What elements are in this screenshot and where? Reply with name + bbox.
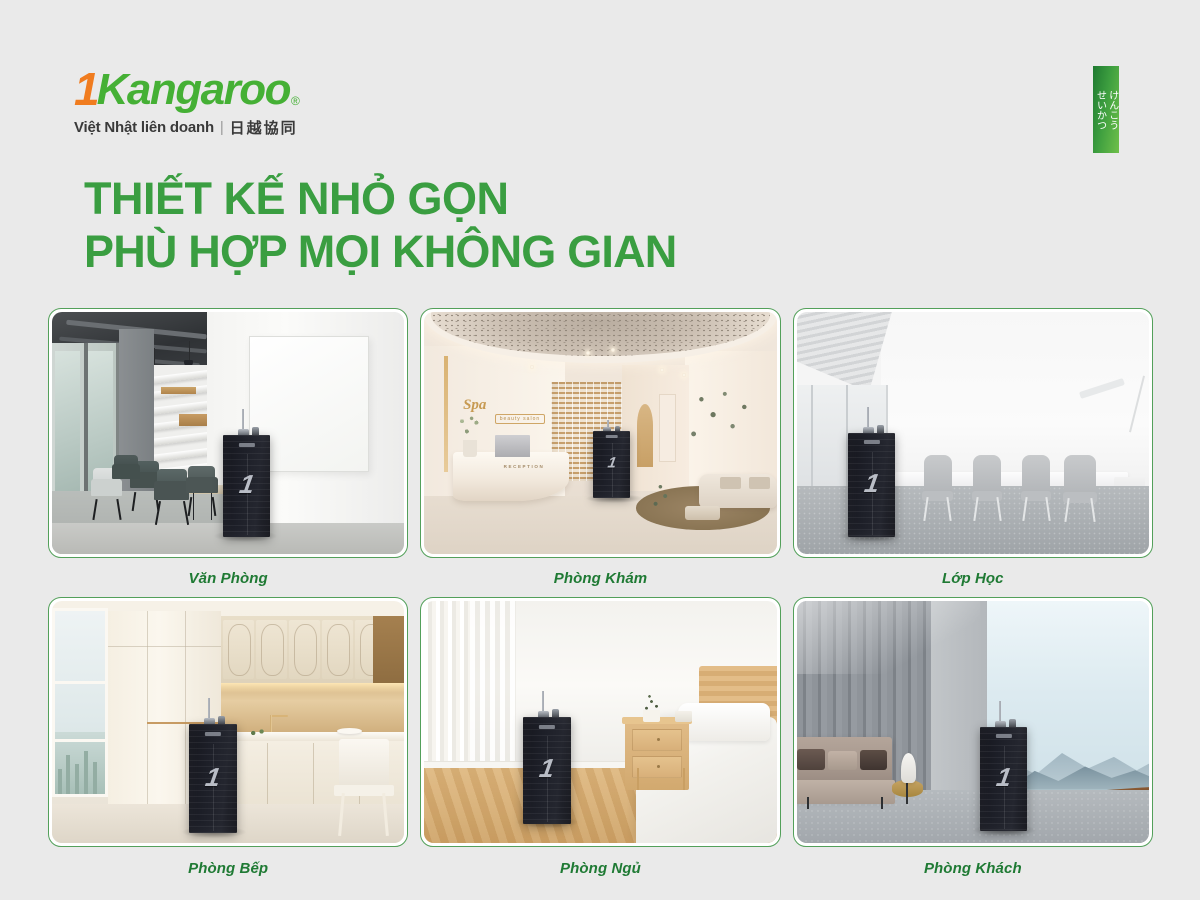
water-purifier-unit[interactable]: 1 <box>980 727 1028 831</box>
wood-accent-panel <box>179 414 211 426</box>
purifier-brand-badge <box>205 732 221 736</box>
room-card-bedroom[interactable]: 1 <box>420 597 780 847</box>
classroom-chair <box>924 455 952 520</box>
spa-reception-desk: RECEPTION <box>453 452 569 500</box>
purifier-knob-icon <box>1009 719 1016 727</box>
chair-back <box>339 739 389 789</box>
card-caption-bedroom: Phòng Ngủ <box>420 847 780 877</box>
classroom-chair <box>973 455 1001 520</box>
spa-laptop <box>495 435 530 457</box>
chair-leg <box>155 502 161 525</box>
purifier-body: 1 <box>223 435 271 537</box>
room-card-classroom[interactable]: 1 <box>793 308 1153 558</box>
chair-leg <box>212 497 216 516</box>
gallery-cell-living-room: 1 Phòng Khách <box>793 597 1153 877</box>
spa-flower-bouquet <box>454 414 486 443</box>
window-frame-bar <box>55 739 105 742</box>
cabinet-door[interactable] <box>322 620 353 680</box>
reception-label: RECEPTION <box>504 464 545 469</box>
nightstand-leg <box>683 768 686 790</box>
sofa-cushion <box>749 477 770 489</box>
kitchen-faucet-arm <box>270 715 288 717</box>
gallery-cell-bedroom: 1 Phòng Ngủ <box>420 597 780 877</box>
side-table-leg <box>906 783 908 805</box>
purifier-knob-icon <box>552 709 559 717</box>
partition-mullion <box>811 385 813 487</box>
page-title: THIẾT KẾ NHỎ GỌN PHÙ HỢP MỌI KHÔNG GIAN <box>84 172 844 278</box>
purifier-brand-badge <box>606 435 619 438</box>
kitchen-faucet-icon <box>270 715 272 732</box>
room-card-office[interactable]: 1 <box>48 308 408 558</box>
purifier-knob-icon <box>877 425 884 433</box>
tagline-japanese: 日越協同 <box>230 117 298 138</box>
kitchen-open-shelf <box>373 616 405 689</box>
japanese-slogan-banner: せいかつ けんこう <box>1093 66 1119 153</box>
bedroom-light-streaks <box>470 601 516 770</box>
card-caption-kitchen: Phòng Bếp <box>48 847 408 877</box>
spa-potted-plant <box>646 479 678 510</box>
purifier-body: 1 <box>189 724 237 833</box>
chair-seat <box>112 464 140 478</box>
jp-banner-column-2: せいかつ <box>1094 70 1105 149</box>
spa-arched-doorway <box>637 404 653 467</box>
chair-leg <box>116 499 121 520</box>
chair-back <box>1064 455 1096 497</box>
purifier-body: 1 <box>848 433 896 537</box>
purifier-brand-badge <box>996 734 1012 738</box>
jp-banner-column-1: けんこう <box>1107 70 1118 149</box>
sofa-pillow <box>860 750 886 771</box>
classroom-chair <box>1064 455 1096 523</box>
spa-indoor-tree <box>678 380 756 457</box>
scene-office: 1 <box>52 312 404 554</box>
gallery-cell-kitchen: 1 Phòng Bếp <box>48 597 408 877</box>
water-purifier-unit[interactable]: 1 <box>523 717 571 823</box>
office-chair <box>154 481 189 525</box>
water-purifier-unit[interactable]: 1 <box>189 724 237 833</box>
sofa-leg <box>881 797 883 809</box>
purifier-body: 1 <box>593 431 630 499</box>
chair-seat <box>186 477 218 493</box>
wood-accent-panel <box>161 387 196 394</box>
purifier-brand-badge <box>539 725 555 729</box>
potted-plant <box>639 693 664 712</box>
sofa-pillow <box>828 751 856 770</box>
under-cabinet-led-light <box>221 683 404 693</box>
card-caption-office: Văn Phòng <box>48 558 408 587</box>
spa-vase <box>463 440 477 457</box>
gallery-cell-classroom: 1 Lớp Học <box>793 308 1153 587</box>
sunlight-patch <box>797 601 980 674</box>
classroom-chair <box>1022 455 1050 520</box>
cabinet-door[interactable] <box>289 620 320 680</box>
room-card-living-room[interactable]: 1 <box>793 597 1153 847</box>
logo-tagline: Việt Nhật liên doanh | 日越協同 <box>74 117 300 138</box>
spa-salon-plate: beauty salon <box>495 414 545 424</box>
office-chair <box>186 477 218 516</box>
logo-wordmark: 1 Kangaroo ® <box>74 66 300 112</box>
chair-back <box>924 455 952 496</box>
water-purifier-unit[interactable]: 1 <box>593 431 630 499</box>
chair-back <box>973 455 1001 496</box>
card-caption-clinic: Phòng Khám <box>420 558 780 587</box>
purifier-knob-icon <box>218 716 225 724</box>
sofa-leg <box>807 797 809 809</box>
scene-bedroom: 1 <box>424 601 776 843</box>
tagline-vietnamese: Việt Nhật liên doanh <box>74 119 214 136</box>
scene-clinic-spa: Spa beauty salon RECEPTION <box>424 312 776 554</box>
spa-door <box>659 394 677 462</box>
headline-line-2: PHÙ HỢP MỌI KHÔNG GIAN <box>84 225 844 278</box>
registered-trademark-icon: ® <box>290 94 300 112</box>
chair-leg <box>188 497 192 516</box>
card-caption-classroom: Lớp Học <box>793 558 1153 587</box>
room-card-clinic[interactable]: Spa beauty salon RECEPTION <box>420 308 780 558</box>
office-chair <box>112 464 140 498</box>
purifier-body: 1 <box>980 727 1028 831</box>
kitchen-chair <box>334 739 394 836</box>
scene-kitchen: 1 <box>52 601 404 843</box>
sofa-cushion <box>720 477 741 489</box>
purifier-brand-badge <box>239 443 255 447</box>
cabinet-door[interactable] <box>256 620 287 680</box>
headline-line-1: THIẾT KẾ NHỎ GỌN <box>84 172 844 225</box>
chair-leg <box>382 793 389 836</box>
kitchen-window <box>52 608 108 797</box>
coffee-cup <box>675 711 693 722</box>
cabinet-door[interactable] <box>223 620 254 680</box>
scene-classroom: 1 <box>797 312 1149 554</box>
brand-logo: 1 Kangaroo ® Việt Nhật liên doanh | 日越協同 <box>74 66 300 138</box>
chair-leg <box>338 793 345 836</box>
scene-living-room: 1 <box>797 601 1149 843</box>
room-gallery-grid: 1 Văn Phòng Spa <box>48 308 1153 877</box>
spa-logo-sign: Spa <box>463 397 486 414</box>
chair-leg <box>92 499 97 520</box>
kitchen-vegetables <box>246 727 271 737</box>
window-frame-bar <box>55 681 105 684</box>
spa-coffee-table <box>685 506 720 521</box>
bedroom-curtain <box>424 601 470 770</box>
gold-wall-strip <box>444 356 448 472</box>
room-card-kitchen[interactable]: 1 <box>48 597 408 847</box>
gallery-cell-office: 1 Văn Phòng <box>48 308 408 587</box>
bust-sculpture <box>901 753 917 782</box>
sofa-pillow <box>797 749 825 771</box>
purifier-brand-badge <box>863 440 879 444</box>
chair-back <box>1022 455 1050 496</box>
ceiling-spotlight-icon <box>682 373 686 377</box>
purifier-body: 1 <box>523 717 571 823</box>
card-caption-living-room: Phòng Khách <box>793 847 1153 877</box>
water-purifier-unit[interactable]: 1 <box>848 433 896 537</box>
water-purifier-unit[interactable]: 1 <box>223 435 271 537</box>
purifier-knob-icon <box>252 427 259 435</box>
nightstand-leg <box>637 768 640 790</box>
classroom-slatted-ceiling <box>797 312 892 392</box>
chair-seat <box>154 481 189 499</box>
gallery-cell-clinic: Spa beauty salon RECEPTION <box>420 308 780 587</box>
tagline-separator: | <box>220 119 224 136</box>
logo-numeral-one: 1 <box>74 66 97 112</box>
logo-kangaroo-text: Kangaroo <box>97 68 290 112</box>
